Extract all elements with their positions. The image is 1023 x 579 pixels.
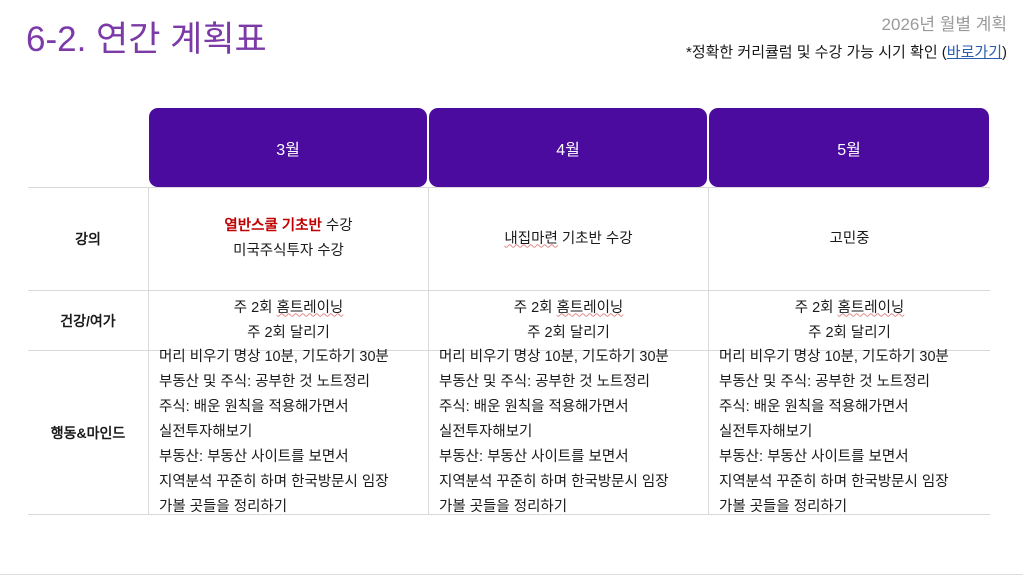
cell-text: 가볼 곳들을 정리하기 bbox=[719, 499, 847, 515]
cell-line: 부동산: 부동산 사이트를 보면서 bbox=[719, 445, 909, 470]
table-header-row: 3월 4월 5월 bbox=[28, 108, 990, 187]
annual-plan-table: 3월 4월 5월 강의열반스쿨 기초반 수강미국주식투자 수강내집마련 기초반 … bbox=[28, 108, 990, 515]
cell-line: 부동산: 부동산 사이트를 보면서 bbox=[159, 445, 349, 470]
cell-text: 머리 비우기 명상 10분, 기도하기 30분 bbox=[439, 349, 669, 365]
cell-text: 주 2회 달리기 bbox=[527, 325, 610, 341]
header-note-prefix: *정확한 커리큘럼 및 수강 가능 시기 확인 ( bbox=[686, 44, 947, 61]
table-row: 행동&마인드머리 비우기 명상 10분, 기도하기 30분부동산 및 주식: 공… bbox=[28, 350, 990, 515]
cell-text: 실전투자해보기 bbox=[719, 424, 812, 440]
cell-text: 머리 비우기 명상 10분, 기도하기 30분 bbox=[719, 349, 949, 365]
table-cell[interactable]: 머리 비우기 명상 10분, 기도하기 30분부동산 및 주식: 공부한 것 노… bbox=[708, 351, 990, 514]
cell-line: 주 2회 홈트레이닝 bbox=[795, 296, 905, 321]
cell-text: 주 2회 달리기 bbox=[247, 325, 330, 341]
table-cell[interactable]: 고민중 bbox=[708, 188, 990, 290]
column-header-month-1[interactable]: 3월 bbox=[149, 108, 427, 187]
table-body: 강의열반스쿨 기초반 수강미국주식투자 수강내집마련 기초반 수강고민중건강/여… bbox=[28, 187, 990, 515]
table-cell[interactable]: 내집마련 기초반 수강 bbox=[428, 188, 708, 290]
header-note: *정확한 커리큘럼 및 수강 가능 시기 확인 (바로가기) bbox=[686, 43, 1007, 63]
cell-text: 가볼 곳들을 정리하기 bbox=[159, 499, 287, 515]
cell-line: 주 2회 홈트레이닝 bbox=[514, 296, 624, 321]
cell-line: 지역분석 꾸준히 하며 한국방문시 임장 bbox=[439, 470, 669, 495]
table-cell[interactable]: 주 2회 홈트레이닝주 2회 달리기 bbox=[708, 291, 990, 350]
cell-line: 부동산 및 주식: 공부한 것 노트정리 bbox=[439, 370, 650, 395]
cell-text: 머리 비우기 명상 10분, 기도하기 30분 bbox=[159, 349, 389, 365]
annual-plan-page: 6-2. 연간 계획표 2026년 월별 계획 *정확한 커리큘럼 및 수강 가… bbox=[0, 0, 1023, 579]
cell-line: 주식: 배운 원칙을 적용해가면서 bbox=[159, 395, 349, 420]
cell-text: 고민중 bbox=[829, 231, 869, 247]
cell-line: 고민중 bbox=[829, 227, 869, 252]
cell-line: 주 2회 달리기 bbox=[247, 321, 330, 346]
cell-text: 주식: 배운 원칙을 적용해가면서 bbox=[719, 399, 909, 415]
cell-text: 부동산: 부동산 사이트를 보면서 bbox=[439, 449, 629, 465]
cell-text: 부동산 및 주식: 공부한 것 노트정리 bbox=[159, 374, 370, 390]
spellcheck-underlined-text: 홈트레이닝 bbox=[838, 300, 905, 316]
column-header-month-2[interactable]: 4월 bbox=[429, 108, 707, 187]
cell-text: 가볼 곳들을 정리하기 bbox=[439, 499, 567, 515]
table-cell[interactable]: 머리 비우기 명상 10분, 기도하기 30분부동산 및 주식: 공부한 것 노… bbox=[148, 351, 428, 514]
cell-line: 미국주식투자 수강 bbox=[233, 239, 344, 264]
spellcheck-underlined-text: 내집마련 bbox=[504, 231, 557, 247]
cell-text: 부동산 및 주식: 공부한 것 노트정리 bbox=[719, 374, 930, 390]
cell-line: 주 2회 홈트레이닝 bbox=[234, 296, 344, 321]
cell-text: 주식: 배운 원칙을 적용해가면서 bbox=[439, 399, 629, 415]
table-row: 건강/여가주 2회 홈트레이닝주 2회 달리기주 2회 홈트레이닝주 2회 달리… bbox=[28, 290, 990, 350]
row-label: 강의 bbox=[28, 188, 148, 290]
cell-text: 주 2회 bbox=[795, 300, 838, 316]
cell-text: 지역분석 꾸준히 하며 한국방문시 임장 bbox=[719, 474, 949, 490]
page-title: 6-2. 연간 계획표 bbox=[26, 11, 267, 62]
cell-line: 주식: 배운 원칙을 적용해가면서 bbox=[719, 395, 909, 420]
highlighted-text: 열반스쿨 기초반 bbox=[224, 218, 321, 234]
spellcheck-underlined-text: 홈트레이닝 bbox=[557, 300, 624, 316]
cell-line: 주 2회 달리기 bbox=[808, 321, 891, 346]
footer-divider bbox=[0, 574, 1023, 575]
cell-line: 부동산 및 주식: 공부한 것 노트정리 bbox=[159, 370, 370, 395]
cell-line: 내집마련 기초반 수강 bbox=[504, 227, 632, 252]
cell-line: 실전투자해보기 bbox=[719, 420, 812, 445]
cell-line: 지역분석 꾸준히 하며 한국방문시 임장 bbox=[159, 470, 389, 495]
row-label-line: 마인드 bbox=[87, 423, 126, 443]
cell-text: 주 2회 bbox=[514, 300, 557, 316]
header-corner-spacer bbox=[28, 108, 148, 187]
cell-line: 지역분석 꾸준히 하며 한국방문시 임장 bbox=[719, 470, 949, 495]
cell-line: 가볼 곳들을 정리하기 bbox=[439, 495, 567, 520]
table-cell[interactable]: 주 2회 홈트레이닝주 2회 달리기 bbox=[428, 291, 708, 350]
cell-line: 열반스쿨 기초반 수강 bbox=[224, 214, 352, 239]
header-subtitle: 2026년 월별 계획 bbox=[686, 14, 1007, 36]
cell-text: 수강 bbox=[322, 218, 353, 234]
cell-line: 실전투자해보기 bbox=[159, 420, 252, 445]
table-cell[interactable]: 열반스쿨 기초반 수강미국주식투자 수강 bbox=[148, 188, 428, 290]
curriculum-link[interactable]: 바로가기 bbox=[947, 44, 1002, 61]
cell-line: 실전투자해보기 bbox=[439, 420, 532, 445]
cell-text: 주 2회 bbox=[234, 300, 277, 316]
cell-line: 주식: 배운 원칙을 적용해가면서 bbox=[439, 395, 629, 420]
cell-line: 가볼 곳들을 정리하기 bbox=[719, 495, 847, 520]
cell-text: 주 2회 달리기 bbox=[808, 325, 891, 341]
row-label: 행동&마인드 bbox=[28, 351, 148, 514]
table-cell[interactable]: 주 2회 홈트레이닝주 2회 달리기 bbox=[148, 291, 428, 350]
cell-line: 머리 비우기 명상 10분, 기도하기 30분 bbox=[159, 345, 389, 370]
cell-text: 부동산 및 주식: 공부한 것 노트정리 bbox=[439, 374, 650, 390]
cell-text: 지역분석 꾸준히 하며 한국방문시 임장 bbox=[159, 474, 389, 490]
row-label-line: & bbox=[77, 423, 87, 443]
cell-text: 실전투자해보기 bbox=[439, 424, 532, 440]
cell-text: 부동산: 부동산 사이트를 보면서 bbox=[159, 449, 349, 465]
table-row: 강의열반스쿨 기초반 수강미국주식투자 수강내집마련 기초반 수강고민중 bbox=[28, 187, 990, 290]
column-header-label: 5월 bbox=[837, 136, 861, 160]
cell-line: 가볼 곳들을 정리하기 bbox=[159, 495, 287, 520]
cell-text: 실전투자해보기 bbox=[159, 424, 252, 440]
cell-line: 머리 비우기 명상 10분, 기도하기 30분 bbox=[719, 345, 949, 370]
spellcheck-underlined-text: 홈트레이닝 bbox=[277, 300, 344, 316]
row-label-line: 강의 bbox=[75, 229, 101, 249]
cell-line: 주 2회 달리기 bbox=[527, 321, 610, 346]
row-label-line: 건강/여가 bbox=[60, 311, 115, 331]
header-right-block: 2026년 월별 계획 *정확한 커리큘럼 및 수강 가능 시기 확인 (바로가… bbox=[686, 14, 1007, 63]
cell-text: 부동산: 부동산 사이트를 보면서 bbox=[719, 449, 909, 465]
column-header-label: 3월 bbox=[276, 136, 300, 160]
column-header-label: 4월 bbox=[556, 136, 580, 160]
column-header-month-3[interactable]: 5월 bbox=[709, 108, 989, 187]
header-note-suffix: ) bbox=[1002, 44, 1007, 61]
cell-line: 부동산: 부동산 사이트를 보면서 bbox=[439, 445, 629, 470]
cell-line: 머리 비우기 명상 10분, 기도하기 30분 bbox=[439, 345, 669, 370]
cell-text: 기초반 수강 bbox=[558, 231, 633, 247]
cell-text: 주식: 배운 원칙을 적용해가면서 bbox=[159, 399, 349, 415]
cell-text: 미국주식투자 수강 bbox=[233, 243, 344, 259]
cell-text: 지역분석 꾸준히 하며 한국방문시 임장 bbox=[439, 474, 669, 490]
row-label-line: 행동 bbox=[51, 423, 77, 443]
table-cell[interactable]: 머리 비우기 명상 10분, 기도하기 30분부동산 및 주식: 공부한 것 노… bbox=[428, 351, 708, 514]
cell-line: 부동산 및 주식: 공부한 것 노트정리 bbox=[719, 370, 930, 395]
row-label: 건강/여가 bbox=[28, 291, 148, 350]
